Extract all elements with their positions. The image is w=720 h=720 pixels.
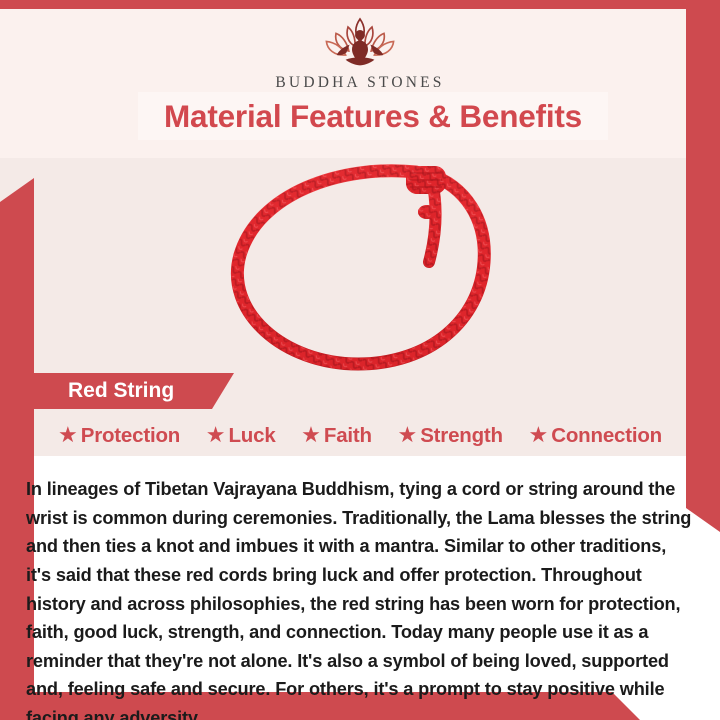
feature-label: Protection: [81, 424, 180, 448]
feature-label: Strength: [420, 424, 503, 448]
lotus-meditation-figure-icon: [312, 14, 408, 72]
feature-item-luck: ★ Luck: [206, 424, 276, 448]
feature-label: Luck: [228, 424, 275, 448]
infographic-poster: BUDDHA STONES Material Features & Benefi…: [0, 0, 720, 720]
brand-logo: BUDDHA STONES: [0, 14, 720, 92]
brand-name: BUDDHA STONES: [0, 74, 720, 92]
feature-item-faith: ★ Faith: [301, 424, 372, 448]
feature-list: ★ Protection ★ Luck ★ Faith ★ Strength ★…: [34, 419, 686, 453]
star-icon: ★: [206, 424, 226, 446]
star-icon: ★: [529, 424, 549, 446]
red-braided-string-bracelet-image: [180, 150, 580, 378]
star-icon: ★: [58, 424, 78, 446]
title-banner: Material Features & Benefits: [138, 92, 608, 140]
star-icon: ★: [301, 424, 321, 446]
product-image: [180, 150, 580, 378]
feature-item-connection: ★ Connection: [529, 424, 662, 448]
feature-item-strength: ★ Strength: [397, 424, 502, 448]
description-paragraph: In lineages of Tibetan Vajrayana Buddhis…: [26, 475, 694, 720]
page-title: Material Features & Benefits: [164, 98, 582, 135]
feature-label: Connection: [551, 424, 662, 448]
product-name-tab: Red String: [26, 373, 234, 409]
product-name-label: Red String: [26, 379, 174, 403]
star-icon: ★: [397, 424, 417, 446]
frame-top-bar: [0, 0, 720, 9]
feature-label: Faith: [324, 424, 372, 448]
feature-item-protection: ★ Protection: [58, 424, 180, 448]
